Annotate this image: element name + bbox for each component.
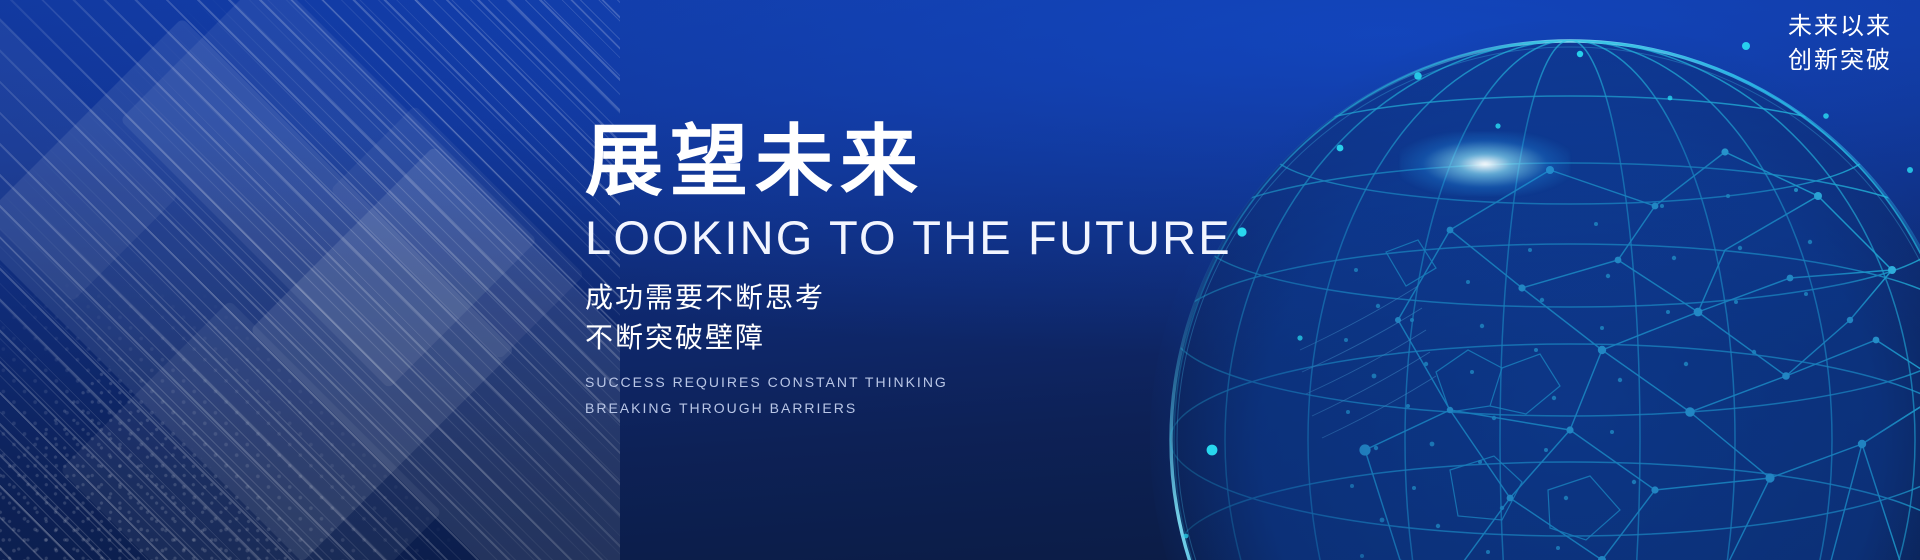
subtitle-cn: 成功需要不断思考 不断突破壁障 [585,278,1225,358]
diagonal-lines-pattern-fine [0,0,620,560]
rim-light-flare-icon [1400,132,1570,196]
globe-wireframe-svg [1150,20,1920,560]
globe-ambient-glow [1150,20,1920,560]
page-title-en: LOOKING TO THE FUTURE [585,214,1225,263]
network-globe-graphic [1150,20,1920,560]
headline-block: 展望未来 LOOKING TO THE FUTURE 成功需要不断思考 不断突破… [585,122,1225,422]
page-title-cn: 展望未来 [585,122,1225,202]
subtitle-cn-line2: 不断突破壁障 [585,318,1225,358]
diagonal-lines-pattern [0,0,620,560]
decor-rectangle [120,0,537,389]
subtitle-en: SUCCESS REQUIRES CONSTANT THINKING BREAK… [585,370,1225,422]
decor-rectangle [330,105,585,360]
decor-rectangle [60,300,442,560]
corner-slogan-line1: 未来以来 [1788,10,1892,44]
decor-rectangle [0,0,178,302]
left-geometric-decor [0,0,620,560]
dot-grid-pattern [0,201,459,560]
decor-rectangle [0,18,514,560]
promo-banner: 未来以来 创新突破 展望未来 LOOKING TO THE FUTURE 成功需… [0,0,1920,560]
corner-slogan: 未来以来 创新突破 [1788,10,1892,78]
subtitle-en-line2: BREAKING THROUGH BARRIERS [585,396,1225,422]
corner-slogan-line2: 创新突破 [1788,44,1892,78]
subtitle-cn-line1: 成功需要不断思考 [585,278,1225,318]
subtitle-en-line1: SUCCESS REQUIRES CONSTANT THINKING [585,370,1225,396]
decor-rectangle [250,146,620,560]
floating-particles [1150,20,1920,560]
dot-grid-pattern-secondary [0,362,338,560]
